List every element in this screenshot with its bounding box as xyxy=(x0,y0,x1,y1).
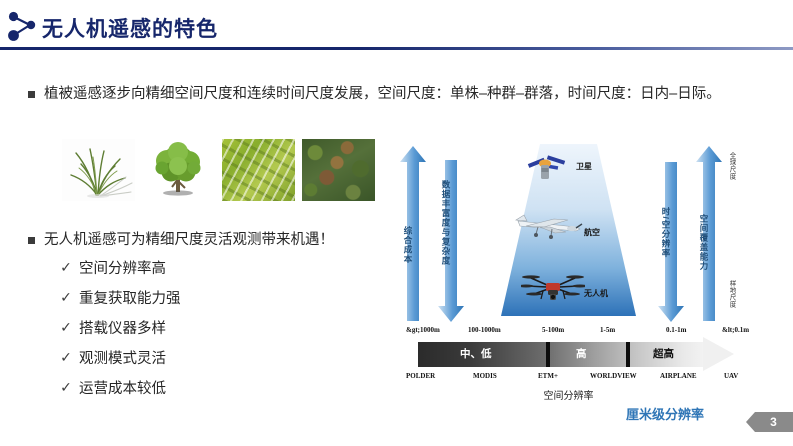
scale-tick: 100-1000m xyxy=(468,326,501,334)
list-item: ✓ 观测模式灵活 xyxy=(60,342,181,372)
scale-source: MODIS xyxy=(473,372,497,380)
forest-canopy-photo xyxy=(302,139,375,201)
scale-source: AIRPLANE xyxy=(660,372,697,380)
advantages-list: ✓ 空间分辨率高 ✓ 重复获取能力强 ✓ 搭载仪器多样 ✓ 观测模式灵活 ✓ 运… xyxy=(60,252,181,402)
check-icon: ✓ xyxy=(60,379,72,396)
list-item: ✓ 运营成本较低 xyxy=(60,372,181,402)
bullet-text-1: 植被遥感逐步向精细空间尺度和连续时间尺度发展，空间尺度：单株–种群–群落，时间尺… xyxy=(44,82,721,107)
bar-segment-label: 中、低 xyxy=(460,346,492,361)
resolution-gradient-bar: 中、低 高 超高 xyxy=(418,342,734,367)
bar-segment-label: 超高 xyxy=(653,346,674,361)
satellite-label: 卫星 xyxy=(576,161,592,172)
scale-tick: 1-5m xyxy=(600,326,615,334)
global-scale-label: 全球尺度 xyxy=(726,152,736,180)
list-item-label: 搭载仪器多样 xyxy=(79,317,166,338)
scale-tick-row: &gt;1000m 100-1000m 5-100m 1-5m 0.1-1m &… xyxy=(402,326,741,340)
scale-source-row: POLDER MODIS ETM+ WORLDVIEW AIRPLANE UAV xyxy=(402,372,741,384)
cost-arrow-label: 综合成本 xyxy=(402,200,414,290)
grass-plant-photo xyxy=(62,139,135,201)
data-richness-arrow-label: 数据丰富度与复杂度 xyxy=(440,168,452,278)
list-item: ✓ 重复获取能力强 xyxy=(60,282,181,312)
thumbnail-strip xyxy=(62,139,375,201)
scale-tick: 0.1-1m xyxy=(666,326,686,334)
scale-source: POLDER xyxy=(406,372,435,380)
bar-divider xyxy=(626,342,630,367)
bullet-item-2: 无人机遥感可为精细尺度灵活观测带来机遇！ xyxy=(28,228,448,253)
list-item-label: 运营成本较低 xyxy=(79,377,166,398)
square-bullet-icon xyxy=(28,91,35,98)
list-item-label: 重复获取能力强 xyxy=(79,287,181,308)
gradient-bar-arrowhead xyxy=(703,337,734,371)
resolution-arrow-label: 时/空分辨率 xyxy=(660,192,672,272)
axis-caption: 空间分辨率 xyxy=(396,387,741,402)
square-bullet-icon xyxy=(28,237,35,244)
list-item: ✓ 空间分辨率高 xyxy=(60,252,181,282)
footnote-text: 厘米级分辨率 xyxy=(626,404,704,423)
uav-label: 无人机 xyxy=(584,288,608,299)
bar-divider xyxy=(546,342,550,367)
list-item: ✓ 搭载仪器多样 xyxy=(60,312,181,342)
platform-scale-diagram: 综合成本 数据丰富度与复杂度 xyxy=(396,140,741,395)
page-title: 无人机遥感的特色 xyxy=(42,13,218,43)
bullet-text-2: 无人机遥感可为精细尺度灵活观测带来机遇！ xyxy=(44,228,334,253)
bar-segment-label: 高 xyxy=(576,346,587,361)
satellite-icon xyxy=(524,152,568,184)
title-divider xyxy=(0,47,793,50)
check-icon: ✓ xyxy=(60,319,72,336)
uav-icon xyxy=(521,270,585,306)
scale-source: ETM+ xyxy=(538,372,558,380)
scale-tick: &gt;1000m xyxy=(406,326,440,334)
scale-source: UAV xyxy=(724,372,738,380)
scale-source: WORLDVIEW xyxy=(590,372,637,380)
check-icon: ✓ xyxy=(60,259,72,276)
share-network-icon xyxy=(4,8,40,44)
scale-tick: &lt;0.1m xyxy=(722,326,749,334)
list-item-label: 空间分辨率高 xyxy=(79,257,166,278)
slide-header: 无人机遥感的特色 xyxy=(0,0,793,52)
slide: 无人机遥感的特色 植被遥感逐步向精细空间尺度和连续时间尺度发展，空间尺度：单株–… xyxy=(0,0,793,446)
check-icon: ✓ xyxy=(60,349,72,366)
aircraft-label: 航空 xyxy=(584,227,600,238)
scale-tick: 5-100m xyxy=(542,326,564,334)
coverage-arrow-label: 空间覆盖能力 xyxy=(698,192,710,292)
page-number: 3 xyxy=(746,410,793,434)
list-item-label: 观测模式灵活 xyxy=(79,347,166,368)
farm-plots-photo xyxy=(222,139,295,201)
bullet-item-1: 植被遥感逐步向精细空间尺度和连续时间尺度发展，空间尺度：单株–种群–群落，时间尺… xyxy=(28,82,768,107)
check-icon: ✓ xyxy=(60,289,72,306)
aircraft-icon xyxy=(514,213,586,243)
tree-photo xyxy=(142,139,215,201)
page-number-badge: 3 xyxy=(746,410,793,434)
plot-scale-label: 样地尺度 xyxy=(726,280,736,308)
